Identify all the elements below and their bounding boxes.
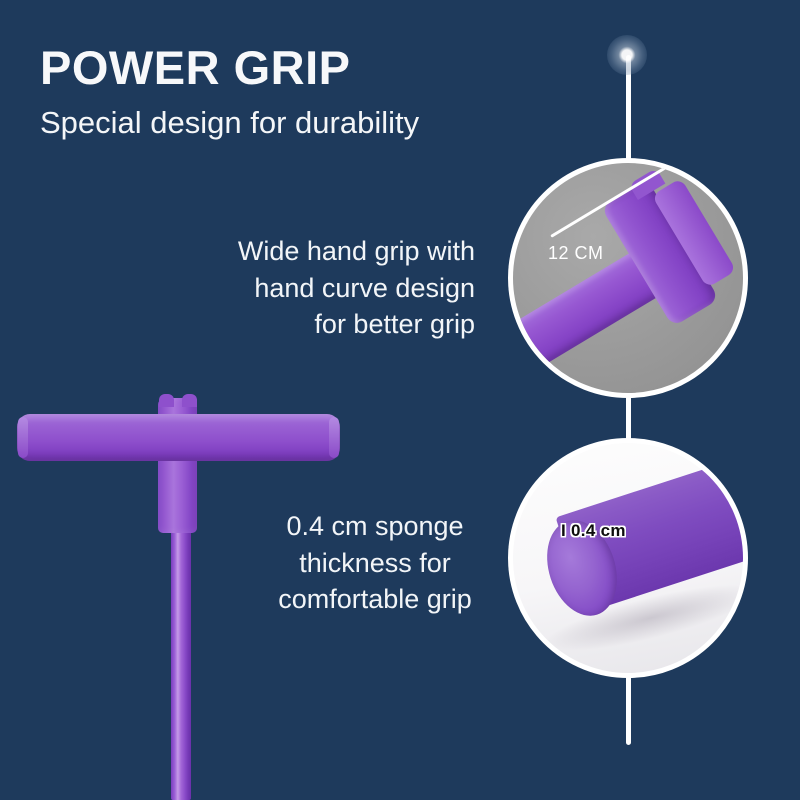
callout-pin-dot-icon bbox=[607, 35, 647, 75]
measurement-label-12cm: 12 CM bbox=[548, 243, 604, 264]
product-illustration bbox=[0, 0, 380, 420]
grip-callout-text: Wide hand grip with hand curve design fo… bbox=[120, 233, 475, 343]
sponge-callout-text: 0.4 cm sponge thickness for comfortable … bbox=[245, 508, 505, 618]
handle-length-inset: 12 CM bbox=[508, 158, 748, 398]
grip-callout-line-3: for better grip bbox=[120, 306, 475, 343]
sponge-callout-line-3: comfortable grip bbox=[245, 581, 505, 618]
grip-callout-line-2: hand curve design bbox=[120, 270, 475, 307]
product-stem-notch-left bbox=[159, 394, 174, 407]
measurement-label-0-4cm: I 0.4 cm bbox=[561, 521, 626, 541]
product-pole bbox=[171, 500, 191, 800]
product-crossbar-foam-grip bbox=[17, 414, 340, 461]
sponge-callout-line-2: thickness for bbox=[245, 545, 505, 582]
product-crossbar-cap-right bbox=[329, 417, 339, 458]
product-stem-notch-right bbox=[182, 394, 197, 407]
grip-callout-line-1: Wide hand grip with bbox=[120, 233, 475, 270]
product-feature-graphic: POWER GRIP Special design for durability… bbox=[0, 0, 800, 800]
sponge-thickness-inset: I 0.4 cm bbox=[508, 438, 748, 678]
product-crossbar-cap-left bbox=[18, 417, 28, 458]
sponge-callout-line-1: 0.4 cm sponge bbox=[245, 508, 505, 545]
